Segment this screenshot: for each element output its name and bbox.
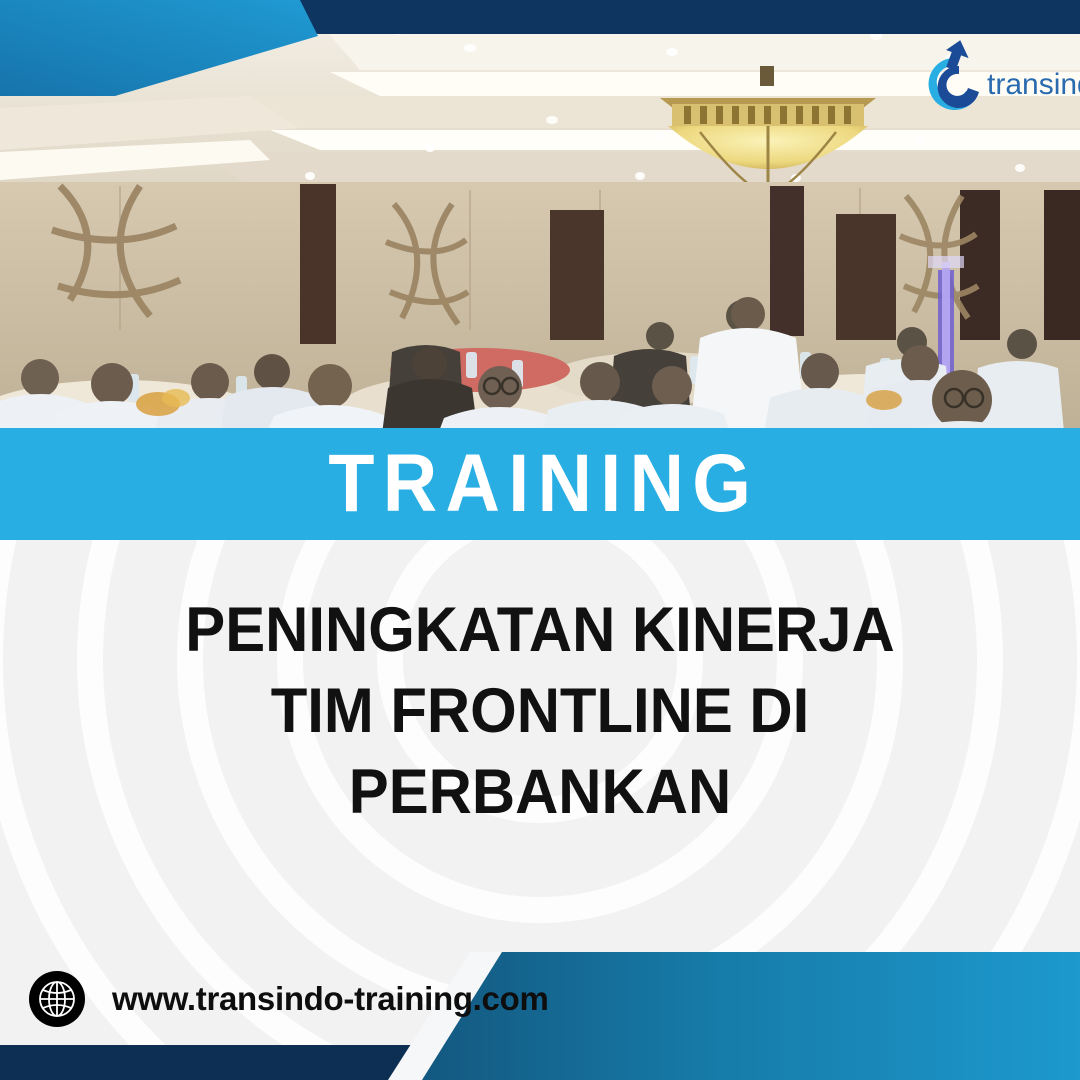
- footer: www.transindo-training.com: [28, 970, 549, 1028]
- page-title: PENINGKATAN KINERJA TIM FRONTLINE DI PER…: [0, 590, 1080, 833]
- title-line-2: TIM FRONTLINE DI: [27, 671, 1053, 752]
- training-banner: TRAINING: [0, 428, 1080, 540]
- website-url[interactable]: www.transindo-training.com: [112, 980, 549, 1018]
- globe-icon: [28, 970, 86, 1028]
- transindo-logo: transindo: [905, 36, 1080, 120]
- title-line-1: PENINGKATAN KINERJA: [27, 590, 1053, 671]
- title-line-3: PERBANKAN: [27, 752, 1053, 833]
- promo-poster: transindo TRAINING PENINGKATAN KINERJA T…: [0, 0, 1080, 1080]
- logo-ring: [938, 66, 979, 108]
- training-banner-label: TRAINING: [320, 443, 759, 525]
- logo-wordmark: transindo: [987, 68, 1080, 101]
